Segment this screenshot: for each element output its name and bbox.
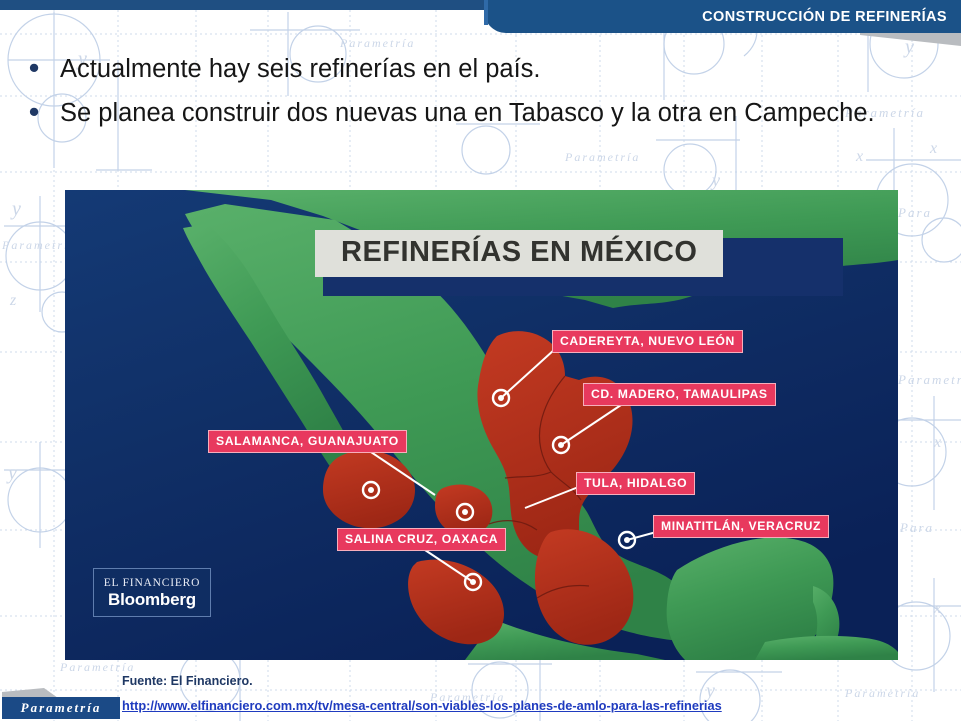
map-label-2: SALAMANCA, GUANAJUATO bbox=[208, 430, 407, 453]
source-url-link[interactable]: http://www.elfinanciero.com.mx/tv/mesa-c… bbox=[122, 698, 722, 713]
watermark-text-20: y bbox=[712, 170, 722, 191]
map-label-4: SALINA CRUZ, OAXACA bbox=[337, 528, 506, 551]
watermark-text-21: x bbox=[856, 148, 865, 166]
bullet-marker: • bbox=[8, 92, 60, 132]
banner-left-tick bbox=[484, 0, 488, 25]
watermark-text-11: x bbox=[934, 434, 943, 452]
map-label-1: CD. MADERO, TAMAULIPAS bbox=[583, 383, 776, 406]
watermark-text-8: x bbox=[930, 140, 939, 158]
watermark-text-19: Parametría bbox=[565, 150, 640, 165]
bullet-text-2: Se planea construir dos nuevas una en Ta… bbox=[60, 92, 875, 134]
watermark-text-14: x bbox=[934, 600, 943, 618]
watermark-text-10: Parametría bbox=[898, 372, 961, 388]
watermark-text-17: Parametría bbox=[845, 686, 920, 701]
parametria-brand-logo: Parametría bbox=[2, 697, 120, 719]
map-label-3: TULA, HIDALGO bbox=[576, 472, 695, 495]
slide-title-banner: CONSTRUCCIÓN DE REFINERÍAS bbox=[484, 0, 961, 33]
map-label-5: MINATITLÁN, VERACRUZ bbox=[653, 515, 829, 538]
logo-line-2: Bloomberg bbox=[108, 590, 196, 609]
refineries-map-image: REFINERÍAS EN MÉXICO CADEREYTA, NUEVO LE… bbox=[65, 190, 898, 660]
bullet-marker: • bbox=[8, 48, 60, 88]
source-caption: Fuente: El Financiero. bbox=[122, 674, 253, 688]
bullet-list: • Actualmente hay seis refinerías en el … bbox=[8, 48, 888, 136]
el-financiero-bloomberg-logo: EL FINANCIERO Bloomberg bbox=[93, 568, 211, 617]
watermark-text-12: y bbox=[8, 462, 19, 485]
map-headline: REFINERÍAS EN MÉXICO bbox=[315, 230, 723, 277]
watermark-text-15: Parametría bbox=[60, 660, 135, 675]
bullet-item-1: • Actualmente hay seis refinerías en el … bbox=[8, 48, 888, 90]
logo-line-1: EL FINANCIERO bbox=[104, 577, 201, 590]
watermark-text-5: y bbox=[12, 198, 23, 221]
bullet-item-2: • Se planea construir dos nuevas una en … bbox=[8, 92, 888, 134]
map-label-0: CADEREYTA, NUEVO LEÓN bbox=[552, 330, 743, 353]
page-title: CONSTRUCCIÓN DE REFINERÍAS bbox=[702, 9, 947, 25]
bullet-text-1: Actualmente hay seis refinerías en el pa… bbox=[60, 48, 541, 90]
watermark-text-9: z bbox=[10, 292, 18, 310]
banner-fold-shadow bbox=[860, 33, 961, 47]
watermark-text-7: Para bbox=[898, 205, 932, 221]
parametria-brand-text: Parametría bbox=[21, 700, 102, 716]
watermark-text-13: Para bbox=[900, 520, 934, 536]
